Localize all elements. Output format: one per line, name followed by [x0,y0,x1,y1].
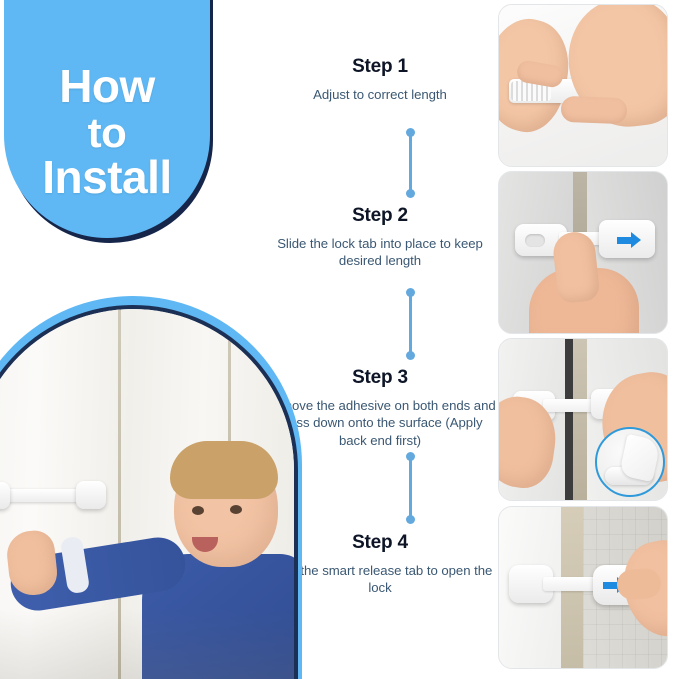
photo-shadow [0,608,294,679]
step-3-photo [498,338,668,501]
connector-step-3-to-4 [406,452,415,524]
cabinet-frame [573,339,587,501]
connector-bar [409,456,412,520]
step-2-photo [498,171,668,334]
step-2: Step 2 Slide the lock tab into place to … [262,205,498,270]
badge-line-3: Install [42,154,171,202]
badge-body: How to Install [4,0,210,238]
connector-step-2-to-3 [406,288,415,360]
connector-dot-icon [406,189,415,198]
baby-eye [192,506,204,515]
circle-callout-icon [595,427,665,497]
badge-line-1: How [59,63,155,111]
baby-eye [230,505,242,514]
step-4-photo [498,506,668,669]
connector-step-1-to-2 [406,128,415,198]
connector-bar [409,292,412,356]
finger [561,96,628,124]
lock-base-button [525,234,545,247]
blue-right-arrow-icon [617,232,641,248]
step-1-scene [499,5,667,166]
step-2-title: Step 2 [262,205,498,228]
step-3-scene [499,339,667,500]
step-2-description: Slide the lock tab into place to keep de… [262,235,498,270]
step-1-description: Adjust to correct length [262,86,498,104]
hero-photo [0,309,294,679]
step-2-scene [499,172,667,333]
hero-photo-arch [0,296,302,679]
how-to-install-badge: How to Install [4,0,210,238]
step-1-photo [498,4,668,167]
how-to-install-infographic: How to Install Step 1 Adjust to correct … [0,0,679,679]
connector-dot-icon [406,515,415,524]
step-1: Step 1 Adjust to correct length [262,56,498,103]
step-1-title: Step 1 [262,56,498,79]
step-4-scene [499,507,667,668]
baby-hair [170,441,278,499]
cabinet-seam [565,339,573,501]
connector-bar [409,132,412,194]
badge-line-2: to [88,111,127,155]
installed-lock-base [0,482,10,509]
connector-dot-icon [406,351,415,360]
installed-lock-tab [76,481,106,509]
